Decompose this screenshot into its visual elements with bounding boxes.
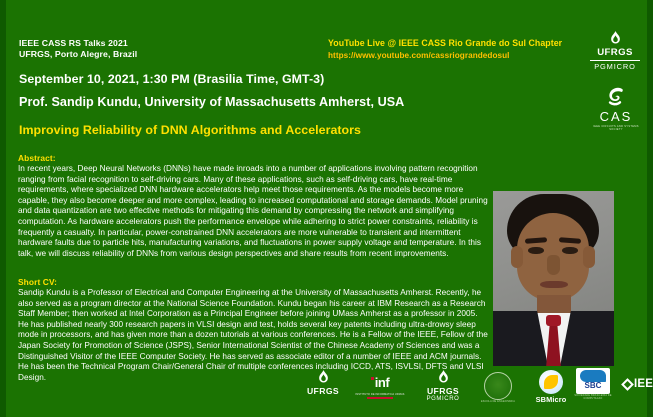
sbc-wordmark: SBC [576, 381, 610, 390]
photo-ear-left [511, 246, 523, 268]
short-cv-heading: Short CV: [18, 277, 488, 287]
abstract-text: In recent years, Deep Neural Networks (D… [18, 164, 488, 259]
abstract-heading: Abstract: [18, 153, 488, 163]
speaker-photo [493, 191, 614, 366]
photo-tie-knot [546, 315, 561, 326]
photo-eye-right [562, 247, 578, 254]
inf-wordmark: inf [375, 376, 389, 389]
ufrgs-pgmicro-logo: UFRGS PGMICRO [584, 31, 646, 71]
talk-datetime: September 10, 2021, 1:30 PM (Brasilia Ti… [19, 72, 324, 86]
sbc-mark-icon: SBC [576, 368, 610, 394]
sbc-tagline: SOCIEDADE BRASILEIRA DE COMPUTACAO [570, 394, 616, 400]
footer-logo-pgmicro: UFRGS PGMICRO [416, 370, 470, 402]
ufrgs-wordmark: UFRGS [416, 386, 470, 396]
speaker-name-affiliation: Prof. Sandip Kundu, University of Massac… [19, 95, 404, 109]
footer-logo-ieee: IEEE [614, 378, 653, 390]
event-series-label: IEEE CASS RS Talks 2021 [19, 38, 349, 49]
poster-canvas: IEEE CASS RS Talks 2021 UFRGS, Porto Ale… [0, 0, 653, 417]
sbmicro-leaf-shape [544, 375, 558, 389]
stream-channel-label: YouTube Live @ IEEE CASS Rio Grande do S… [328, 38, 573, 50]
footer-logo-inf: inf INSTITUTO DE INFORMATICA UFRGS [352, 374, 408, 399]
flame-icon [317, 370, 330, 385]
engineering-seal-icon [484, 372, 512, 400]
footer-logo-ufrgs: UFRGS [296, 370, 350, 396]
ufrgs-wordmark: UFRGS [584, 47, 646, 58]
cas-mark-icon [604, 85, 628, 109]
page-title: Improving Reliability of DNN Algorithms … [19, 123, 361, 137]
photo-ear-right [583, 246, 595, 268]
cas-logo-top: CAS IEEE CIRCUITS AND SYSTEMS SOCIETY [592, 85, 640, 131]
photo-eye-left [528, 247, 544, 254]
abstract-section: Abstract: In recent years, Deep Neural N… [18, 153, 488, 259]
event-info: IEEE CASS RS Talks 2021 UFRGS, Porto Ale… [19, 38, 349, 60]
photo-mouth [540, 281, 568, 288]
cas-tagline: IEEE CIRCUITS AND SYSTEMS SOCIETY [592, 125, 640, 131]
footer-logo-engineering-school: ESCOLA DE ENGENHARIA [472, 372, 524, 403]
pgmicro-wordmark: PGMICRO [584, 62, 646, 71]
footer-logo-sbc: SBC SOCIEDADE BRASILEIRA DE COMPUTACAO [570, 368, 616, 400]
engineering-school-tagline: ESCOLA DE ENGENHARIA [472, 400, 524, 403]
stream-url-link[interactable]: https://www.youtube.com/cassriograndedos… [328, 50, 573, 62]
ufrgs-wordmark: UFRGS [296, 386, 350, 396]
sponsor-logo-strip: UFRGS inf INSTITUTO DE INFORMATICA UFRGS… [296, 366, 646, 414]
sbmicro-mark-icon [539, 370, 563, 394]
stream-info: YouTube Live @ IEEE CASS Rio Grande do S… [328, 38, 573, 61]
pgmicro-wordmark: PGMICRO [416, 396, 470, 402]
cas-wordmark: CAS [592, 109, 640, 124]
photo-nose [547, 255, 560, 275]
event-location-label: UFRGS, Porto Alegre, Brazil [19, 49, 349, 60]
ieee-wordmark: IEEE [634, 378, 653, 390]
inf-rule [367, 397, 393, 399]
inf-tagline: INSTITUTO DE INFORMATICA UFRGS [352, 393, 408, 396]
flame-icon [437, 370, 450, 385]
flame-icon [609, 31, 622, 46]
logo-divider [590, 60, 640, 61]
ieee-diamond-icon [621, 378, 634, 391]
inf-dot-icon [371, 377, 374, 380]
